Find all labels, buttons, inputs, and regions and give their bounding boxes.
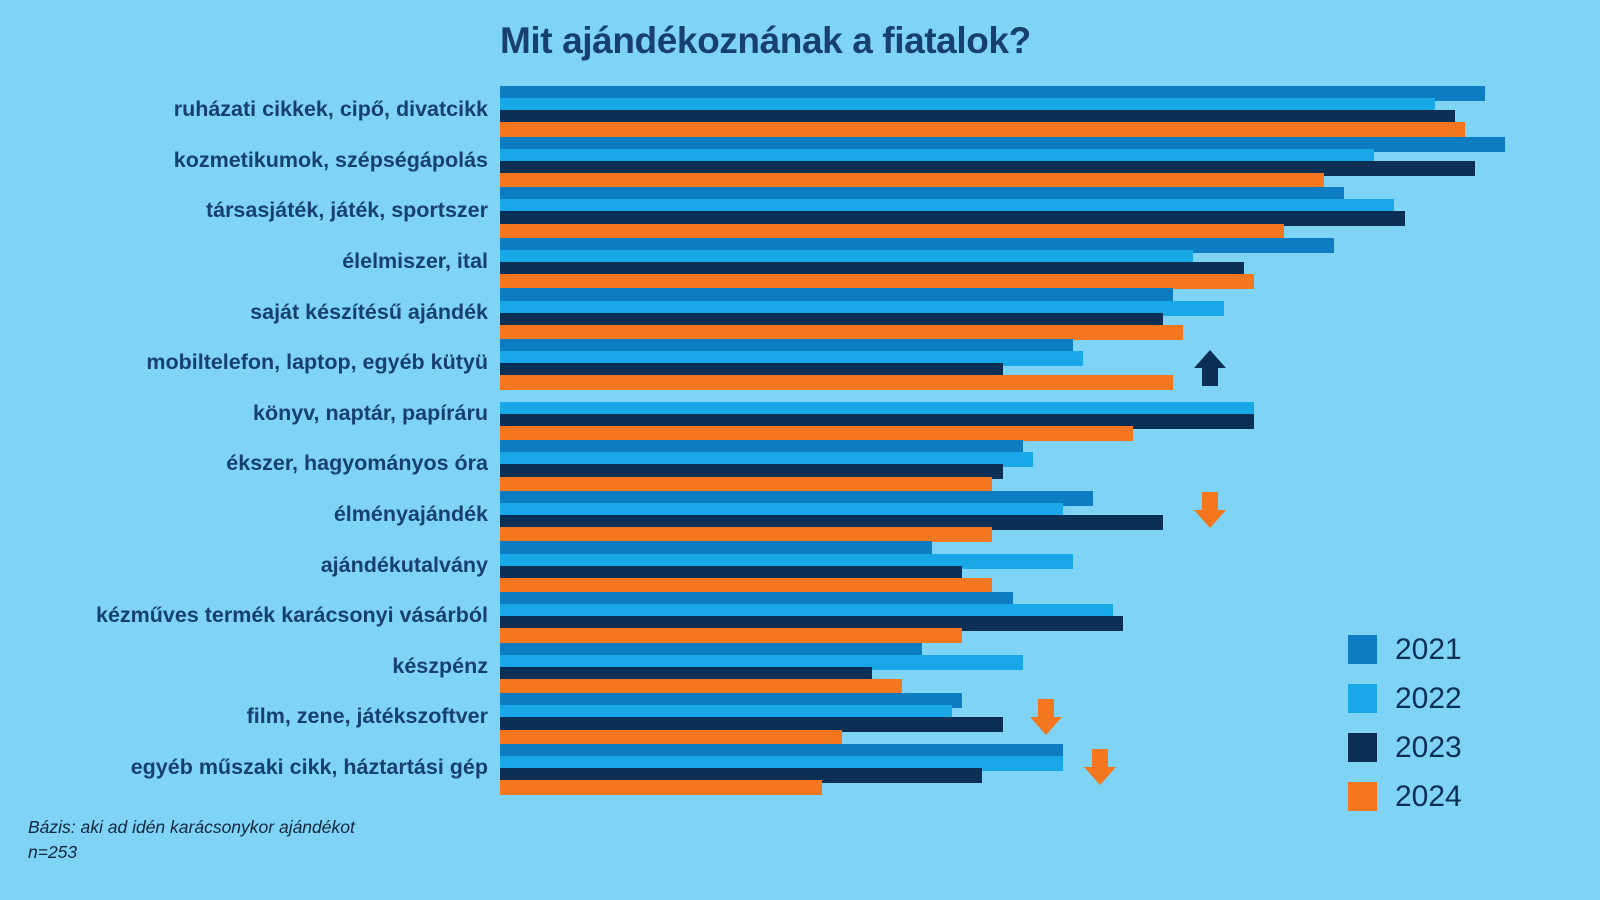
chart-root: Mit ajándékoznának a fiatalok? ruházati …	[0, 0, 1600, 900]
category-label: társasjáték, játék, sportszer	[206, 200, 488, 222]
legend-swatch-icon	[1348, 782, 1377, 811]
bar-2024	[500, 426, 1133, 441]
bar-2024	[500, 325, 1183, 340]
bar-2024	[500, 780, 822, 795]
category-label: ékszer, hagyományos óra	[226, 453, 488, 475]
legend-swatch-icon	[1348, 635, 1377, 664]
category-label: élelmiszer, ital	[342, 251, 488, 273]
bar-2024	[500, 173, 1324, 188]
bar-2024	[500, 122, 1465, 137]
legend-label: 2024	[1395, 780, 1462, 814]
chart-legend: 2021202220232024	[1348, 625, 1462, 821]
legend-label: 2022	[1395, 682, 1462, 716]
category-label: könyv, naptár, papíráru	[253, 403, 488, 425]
footnote-n: n=253	[28, 840, 355, 865]
category-label: film, zene, játékszoftver	[247, 706, 488, 728]
category-label: ruházati cikkek, cipő, divatcikk	[174, 99, 488, 121]
bar-2024	[500, 679, 902, 694]
bar-2024	[500, 477, 992, 492]
legend-label: 2021	[1395, 633, 1462, 667]
legend-item-2024[interactable]: 2024	[1348, 772, 1462, 821]
legend-swatch-icon	[1348, 684, 1377, 713]
category-label: saját készítésű ajándék	[250, 302, 488, 324]
category-label: kozmetikumok, szépségápolás	[174, 150, 488, 172]
category-label: mobiltelefon, laptop, egyéb kütyü	[146, 352, 488, 374]
bar-2024	[500, 628, 962, 643]
legend-item-2021[interactable]: 2021	[1348, 625, 1462, 674]
arrow-down-icon	[1192, 490, 1228, 535]
legend-item-2023[interactable]: 2023	[1348, 723, 1462, 772]
category-label: élményajándék	[334, 504, 488, 526]
category-label: készpénz	[392, 656, 488, 678]
arrow-down-icon	[1082, 747, 1118, 792]
bar-2024	[500, 375, 1173, 390]
category-label: ajándékutalvány	[321, 555, 488, 577]
legend-label: 2023	[1395, 731, 1462, 765]
bar-2024	[500, 224, 1284, 239]
arrow-up-icon	[1192, 348, 1228, 393]
bar-2024	[500, 527, 992, 542]
legend-swatch-icon	[1348, 733, 1377, 762]
bar-2024	[500, 274, 1254, 289]
chart-title: Mit ajándékoznának a fiatalok?	[500, 20, 1600, 62]
bar-2024	[500, 578, 992, 593]
footnote-basis: Bázis: aki ad idén karácsonykor ajándéko…	[28, 815, 355, 840]
arrow-down-icon	[1028, 697, 1064, 742]
category-label: egyéb műszaki cikk, háztartási gép	[131, 757, 488, 779]
chart-footnote: Bázis: aki ad idén karácsonykor ajándéko…	[28, 815, 355, 866]
category-label: kézműves termék karácsonyi vásárból	[96, 605, 488, 627]
bar-2024	[500, 730, 842, 745]
legend-item-2022[interactable]: 2022	[1348, 674, 1462, 723]
